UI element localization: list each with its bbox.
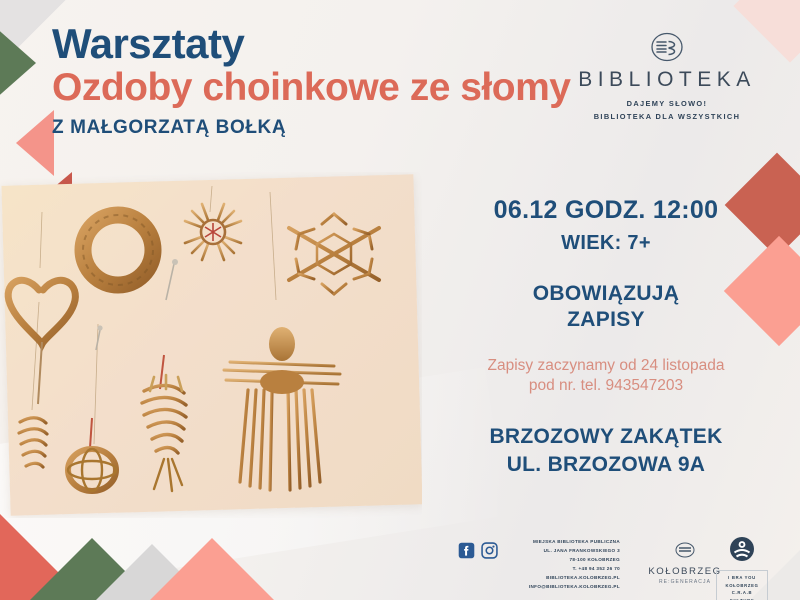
straw-angel — [224, 327, 340, 490]
library-tagline-line-2: BIBLIOTEKA DLA WSZYSTKICH — [572, 111, 762, 124]
contact-line[interactable]: INFO@BIBLIOTEKA.KOLOBRZEG.PL — [492, 583, 620, 592]
kultura-mark-icon — [729, 536, 755, 562]
kolobrzeg-logo: KOŁOBRZEG RE:GENERACJA — [646, 542, 724, 585]
decorative-triangle-pink-left — [16, 110, 54, 176]
straw-sunburst-star — [183, 202, 243, 262]
venue-address: BRZOZOWY ZAKĄTEK UL. BRZOZOWA 9A — [432, 423, 780, 478]
registration-required-line-2: ZAPISY — [432, 307, 780, 333]
registration-required: OBOWIĄZUJĄ ZAPISY — [432, 281, 780, 334]
heart-tail — [38, 342, 42, 404]
straw-wreath — [83, 215, 153, 285]
contact-line: MIEJSKA BIBLIOTEKA PUBLICZNA — [492, 538, 620, 547]
kultura-text: I BRA YOU KOŁOBRZEG C.R.A.B KULTURY — [716, 570, 768, 600]
straw-spiral-cone — [142, 355, 186, 491]
kultura-logo: I BRA YOU KOŁOBRZEG C.R.A.B KULTURY — [716, 536, 768, 600]
registration-required-line-1: OBOWIĄZUJĄ — [432, 281, 780, 307]
event-date-time: 06.12 GODZ. 12:00 — [432, 196, 780, 225]
event-info-block: 06.12 GODZ. 12:00 WIEK: 7+ OBOWIĄZUJĄ ZA… — [432, 196, 780, 478]
venue-street: UL. BRZOZOWA 9A — [432, 451, 780, 478]
contact-line: 78-100 KOŁOBRZEG — [492, 556, 620, 565]
contact-line: T. +48 94 352 26 70 — [492, 565, 620, 574]
photo-straw-ornaments — [0, 172, 422, 518]
library-logo: BIBLIOTEKA DAJEMY SŁOWO! BIBLIOTEKA DLA … — [572, 32, 762, 124]
straw-ball — [68, 418, 116, 491]
straw-snowflake — [289, 202, 379, 306]
registration-note: Zapisy zaczynamy od 24 listopada pod nr.… — [432, 356, 780, 398]
library-name: BIBLIOTEKA — [572, 68, 762, 92]
event-age: WIEK: 7+ — [432, 232, 780, 255]
registration-note-line-2: pod nr. tel. 943547203 — [432, 376, 780, 397]
poster: Warsztaty Ozdoby choinkowe ze słomy Z MA… — [0, 0, 800, 600]
contact-line[interactable]: BIBLIOTEKA.KOLOBRZEG.PL — [492, 574, 620, 583]
registration-note-line-1: Zapisy zaczynamy od 24 listopada — [432, 356, 780, 377]
kolobrzeg-name: KOŁOBRZEG — [646, 566, 724, 577]
decorative-triangle-green-left — [0, 26, 36, 100]
kolobrzeg-subtitle: RE:GENERACJA — [646, 579, 724, 585]
footer-triangle-salmon — [150, 538, 274, 600]
title-line-3-instructor: Z MAŁGORZATĄ BOŁKĄ — [52, 117, 632, 139]
straw-heart — [8, 280, 75, 344]
kultura-line-3: C.R.A.B — [719, 589, 765, 597]
library-tagline-line-1: DAJEMY SŁOWO! — [572, 98, 762, 111]
kultura-line-1: I BRA YOU — [719, 574, 765, 582]
title-line-2: Ozdoby choinkowe ze słomy — [52, 66, 632, 110]
footer: MIEJSKA BIBLIOTEKA PUBLICZNA UL. JANA FR… — [0, 528, 800, 600]
facebook-icon[interactable] — [458, 542, 475, 559]
poster-title: Warsztaty Ozdoby choinkowe ze słomy Z MA… — [52, 22, 632, 139]
contact-info: MIEJSKA BIBLIOTEKA PUBLICZNA UL. JANA FR… — [492, 538, 620, 592]
library-mark-icon — [650, 32, 684, 62]
contact-line: UL. JANA FRANKOWSKIEGO 3 — [492, 547, 620, 556]
venue-name: BRZOZOWY ZAKĄTEK — [432, 423, 780, 450]
ornaments-illustration — [0, 172, 422, 518]
kultura-line-2: KOŁOBRZEG — [719, 582, 765, 590]
kolobrzeg-mark-icon — [674, 542, 696, 558]
library-tagline: DAJEMY SŁOWO! BIBLIOTEKA DLA WSZYSTKICH — [572, 98, 762, 124]
title-line-1: Warsztaty — [52, 22, 632, 66]
straw-bundle — [19, 418, 47, 467]
